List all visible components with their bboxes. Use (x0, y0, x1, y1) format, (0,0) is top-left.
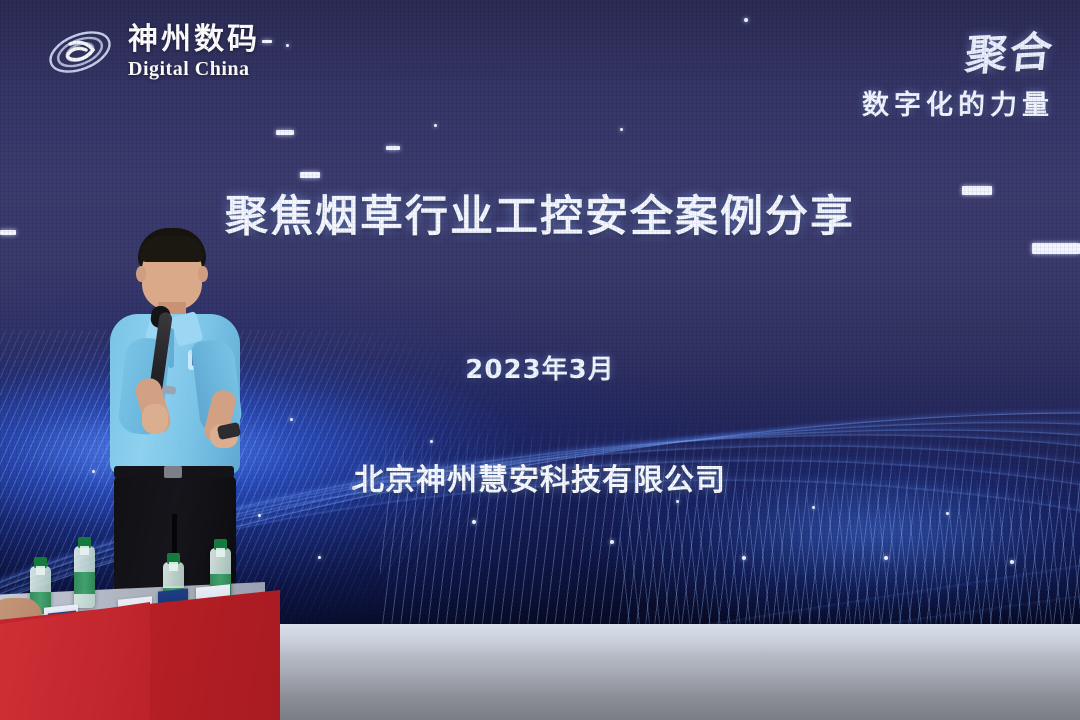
brand-name-en: Digital China (128, 59, 260, 79)
speaker-hand-left (142, 404, 168, 434)
water-bottle (74, 546, 95, 608)
speaker-hair-front (140, 236, 204, 262)
speaker-belt-buckle (164, 466, 182, 478)
brand-name-cn: 神州数码 (128, 25, 260, 55)
digital-china-swirl-icon (44, 22, 116, 82)
speaker-figure (92, 228, 272, 608)
conference-photo: 神州数码 Digital China 聚合 数字化的力量 聚焦烟草行业工控安全案… (0, 0, 1080, 720)
speaker-ear-left (136, 266, 146, 282)
slogan-brush-text: 聚合 (962, 18, 1057, 84)
event-slogan: 聚合 数字化的力量 (862, 20, 1054, 122)
slogan-subtitle: 数字化的力量 (862, 83, 1054, 122)
brand-logo: 神州数码 Digital China (44, 22, 260, 82)
speaker-ear-right (198, 266, 208, 282)
